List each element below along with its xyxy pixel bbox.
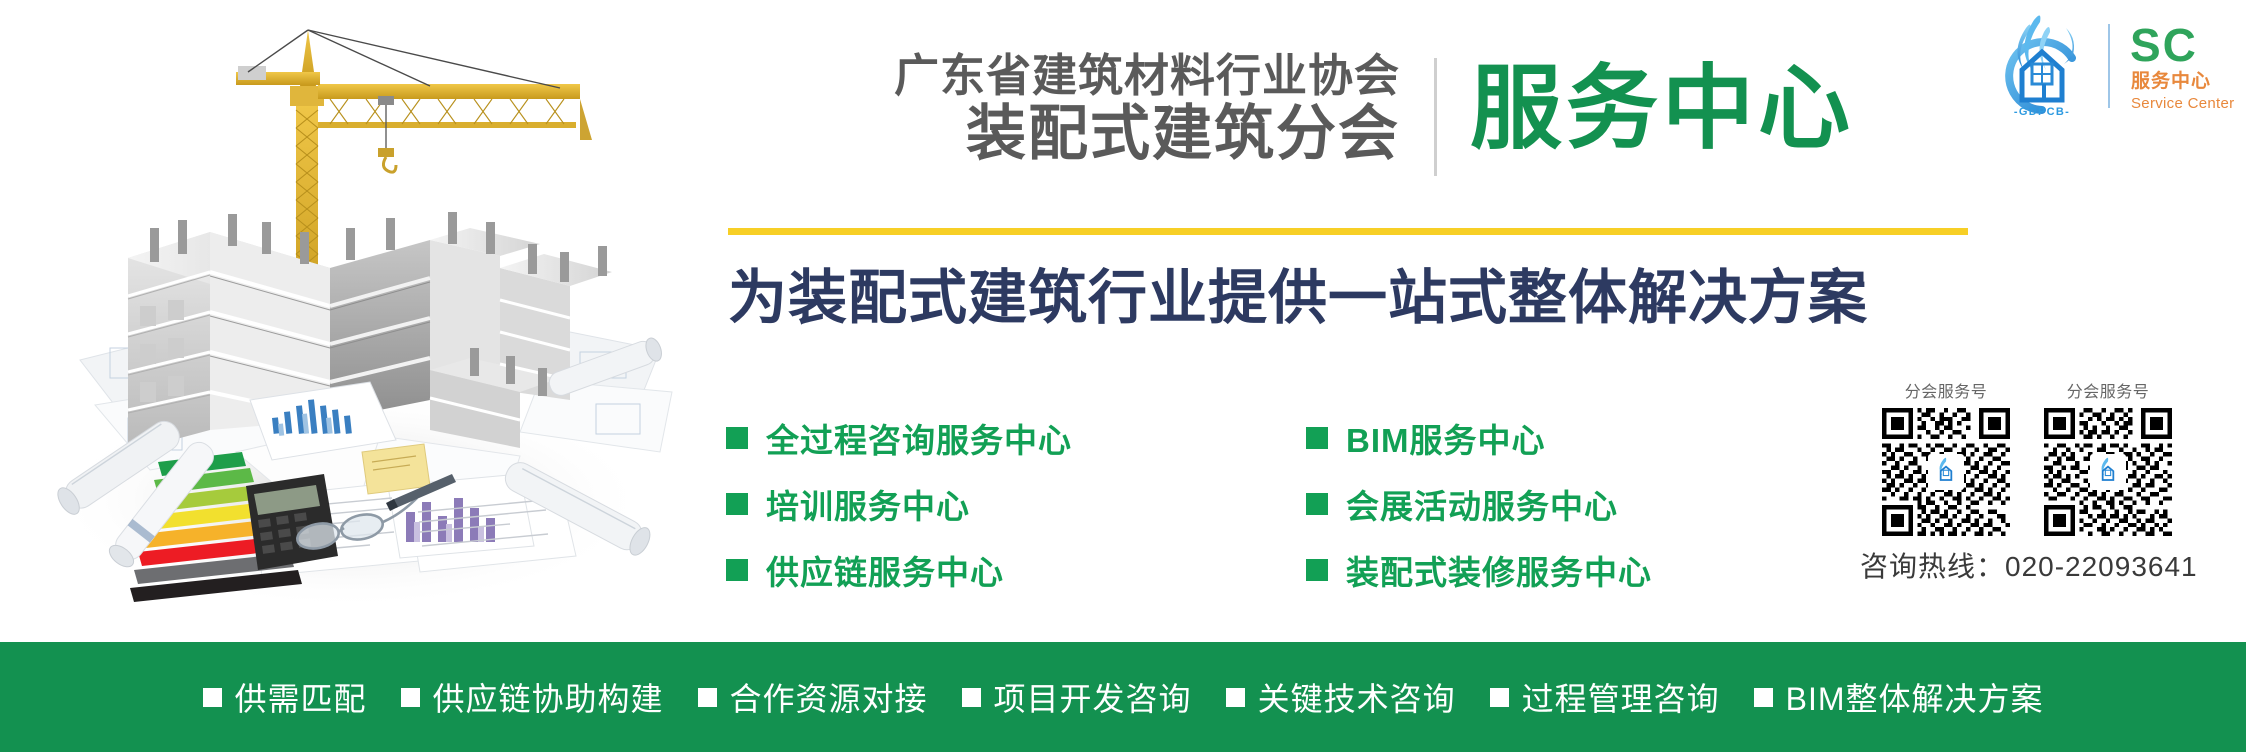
qr-code-image[interactable] bbox=[1882, 408, 2010, 536]
square-bullet-icon bbox=[1306, 427, 1328, 449]
service-item[interactable]: BIM服务中心 bbox=[1306, 405, 1652, 471]
service-item[interactable]: 全过程咨询服务中心 bbox=[726, 405, 1072, 471]
service-item[interactable]: 会展活动服务中心 bbox=[1306, 471, 1652, 537]
gdpcb-logo-icon: -GDPCB- bbox=[1986, 14, 2098, 119]
association-line1: 广东省建筑材料行业协会 bbox=[840, 52, 1400, 100]
footer-item-label: BIM整体解决方案 bbox=[1786, 674, 2044, 720]
square-bullet-icon bbox=[1490, 688, 1509, 707]
footer-item[interactable]: 过程管理咨询 bbox=[1490, 674, 1720, 720]
qr-cell[interactable]: 分会服务号 bbox=[1882, 378, 2010, 536]
brand-divider bbox=[2108, 24, 2110, 108]
service-item[interactable]: 供应链服务中心 bbox=[726, 537, 1072, 603]
footer-item[interactable]: 合作资源对接 bbox=[698, 674, 928, 720]
association-name: 广东省建筑材料行业协会 装配式建筑分会 bbox=[840, 52, 1400, 166]
service-item-label: 全过程咨询服务中心 bbox=[766, 414, 1072, 462]
svg-text:-GDPCB-: -GDPCB- bbox=[2014, 106, 2070, 118]
footer-item[interactable]: 供应链协助构建 bbox=[401, 674, 664, 720]
service-item-label: BIM服务中心 bbox=[1346, 414, 1546, 462]
qr-center-logo-icon bbox=[2090, 454, 2126, 490]
sc-abbrev: SC bbox=[2130, 22, 2198, 68]
footer-item-label: 供应链协助构建 bbox=[433, 674, 664, 720]
promo-banner: 广东省建筑材料行业协会 装配式建筑分会 服务中心 为装配式建筑行业提供一站式整体… bbox=[0, 0, 2246, 752]
qr-center-logo-icon bbox=[1928, 454, 1964, 490]
qr-code-image[interactable] bbox=[2044, 408, 2172, 536]
square-bullet-icon bbox=[726, 493, 748, 515]
service-item-label: 供应链服务中心 bbox=[766, 546, 1004, 594]
sticky-note bbox=[362, 444, 430, 494]
header-vertical-divider bbox=[1434, 58, 1437, 176]
service-list-right: BIM服务中心 会展活动服务中心 装配式装修服务中心 bbox=[1306, 405, 1652, 603]
square-bullet-icon bbox=[698, 688, 717, 707]
service-list-left: 全过程咨询服务中心 培训服务中心 供应链服务中心 bbox=[726, 405, 1072, 603]
gold-divider bbox=[728, 228, 1968, 235]
footer-item[interactable]: 关键技术咨询 bbox=[1226, 674, 1456, 720]
service-item-label: 装配式装修服务中心 bbox=[1346, 546, 1652, 594]
service-item-label: 会展活动服务中心 bbox=[1346, 480, 1618, 528]
sc-english-label: Service Center bbox=[2131, 96, 2234, 111]
footer-item[interactable]: 供需匹配 bbox=[203, 674, 367, 720]
square-bullet-icon bbox=[1306, 493, 1328, 515]
qr-cell[interactable]: 分会服务号 bbox=[2044, 378, 2172, 536]
footer-item[interactable]: 项目开发咨询 bbox=[962, 674, 1192, 720]
service-item-label: 培训服务中心 bbox=[766, 480, 970, 528]
hotline-text: 咨询热线：020-22093641 bbox=[1860, 545, 2198, 585]
footer-item-label: 供需匹配 bbox=[235, 674, 367, 720]
square-bullet-icon bbox=[962, 688, 981, 707]
square-bullet-icon bbox=[203, 688, 222, 707]
brand-logo: -GDPCB- SC 服务中心 Service Center bbox=[1986, 14, 2236, 119]
footer-item-label: 项目开发咨询 bbox=[994, 674, 1192, 720]
hero-illustration bbox=[0, 0, 690, 645]
footer-item[interactable]: BIM整体解决方案 bbox=[1754, 674, 2044, 720]
square-bullet-icon bbox=[726, 559, 748, 581]
square-bullet-icon bbox=[726, 427, 748, 449]
footer-service-bar: 供需匹配 供应链协助构建 合作资源对接 项目开发咨询 关键技术咨询 过程管理咨询… bbox=[0, 642, 2246, 752]
qr-caption: 分会服务号 bbox=[1882, 378, 2010, 402]
sc-chinese-label: 服务中心 bbox=[2131, 72, 2211, 91]
square-bullet-icon bbox=[401, 688, 420, 707]
service-item[interactable]: 培训服务中心 bbox=[726, 471, 1072, 537]
qr-caption: 分会服务号 bbox=[2044, 378, 2172, 402]
tagline: 为装配式建筑行业提供一站式整体解决方案 bbox=[728, 262, 1868, 336]
footer-item-label: 过程管理咨询 bbox=[1522, 674, 1720, 720]
footer-item-label: 关键技术咨询 bbox=[1258, 674, 1456, 720]
association-line2: 装配式建筑分会 bbox=[840, 102, 1400, 167]
square-bullet-icon bbox=[1306, 559, 1328, 581]
qr-code-block: 分会服务号 bbox=[1882, 378, 2212, 536]
footer-item-label: 合作资源对接 bbox=[730, 674, 928, 720]
square-bullet-icon bbox=[1754, 688, 1773, 707]
service-center-title: 服务中心 bbox=[1470, 52, 1854, 167]
square-bullet-icon bbox=[1226, 688, 1245, 707]
calculator bbox=[246, 474, 338, 570]
service-item[interactable]: 装配式装修服务中心 bbox=[1306, 537, 1652, 603]
